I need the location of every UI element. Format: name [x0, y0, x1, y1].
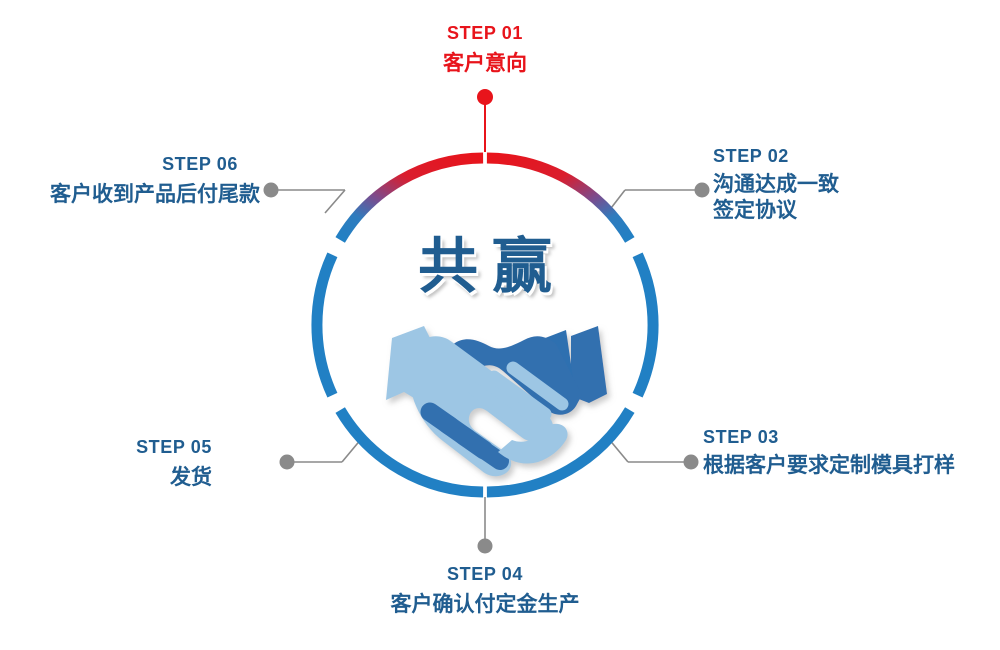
step-text-02: 沟通达成一致 签定协议 [713, 172, 993, 225]
handshake-dark-finger-4 [481, 448, 500, 461]
connector-elbow-step-06 [325, 190, 345, 213]
step-label-01[interactable]: STEP 01 客户意向 [385, 22, 585, 77]
step-number-05: STEP 05 [0, 436, 252, 459]
diagram-canvas: 共赢 STEP 01 客户意向 STEP 02 沟通达成一致 签定协议 STEP… [0, 0, 1000, 650]
connector-dot-step-06[interactable] [264, 183, 279, 198]
circular-process-graphic [0, 0, 1000, 650]
handshake-icon [386, 326, 607, 476]
connector-dot-step-03[interactable] [684, 455, 699, 470]
step-text-04: 客户确认付定金生产 [385, 592, 585, 618]
step-text-04-line-1: 客户确认付定金生产 [385, 592, 585, 618]
step-number-02: STEP 02 [713, 145, 993, 168]
step-number-06: STEP 06 [0, 153, 260, 176]
step-text-02-line-2: 签定协议 [713, 198, 993, 224]
connector-dot-step-01[interactable] [477, 89, 493, 105]
step-text-05: 发货 [0, 465, 252, 491]
step-label-06[interactable]: STEP 06 客户收到产品后付尾款 [0, 153, 260, 208]
step-text-01-line-1: 客户意向 [385, 51, 585, 77]
step-text-02-line-1: 沟通达成一致 [713, 172, 993, 198]
ring-segment-02[interactable] [638, 255, 653, 395]
ring-segment-05[interactable] [317, 255, 332, 395]
step-number-04: STEP 04 [385, 563, 585, 586]
step-label-03[interactable]: STEP 03 根据客户要求定制模具打样 [703, 426, 993, 479]
step-text-06: 客户收到产品后付尾款 [0, 182, 260, 208]
connector-dot-step-02[interactable] [695, 183, 710, 198]
step-text-03: 根据客户要求定制模具打样 [703, 453, 993, 479]
step-text-06-line-1: 客户收到产品后付尾款 [0, 182, 260, 208]
step-label-02[interactable]: STEP 02 沟通达成一致 签定协议 [713, 145, 993, 224]
connector-dot-step-05[interactable] [280, 455, 295, 470]
center-title: 共赢 [335, 218, 635, 305]
step-label-04[interactable]: STEP 04 客户确认付定金生产 [385, 563, 585, 618]
connector-dot-step-04[interactable] [478, 539, 493, 554]
connector-group [264, 89, 710, 554]
step-text-01: 客户意向 [385, 51, 585, 77]
step-label-05[interactable]: STEP 05 发货 [0, 436, 252, 491]
step-number-01: STEP 01 [385, 22, 585, 45]
step-text-05-line-1: 发货 [0, 465, 212, 491]
step-text-03-line-1: 根据客户要求定制模具打样 [703, 453, 993, 479]
step-number-03: STEP 03 [703, 426, 993, 449]
